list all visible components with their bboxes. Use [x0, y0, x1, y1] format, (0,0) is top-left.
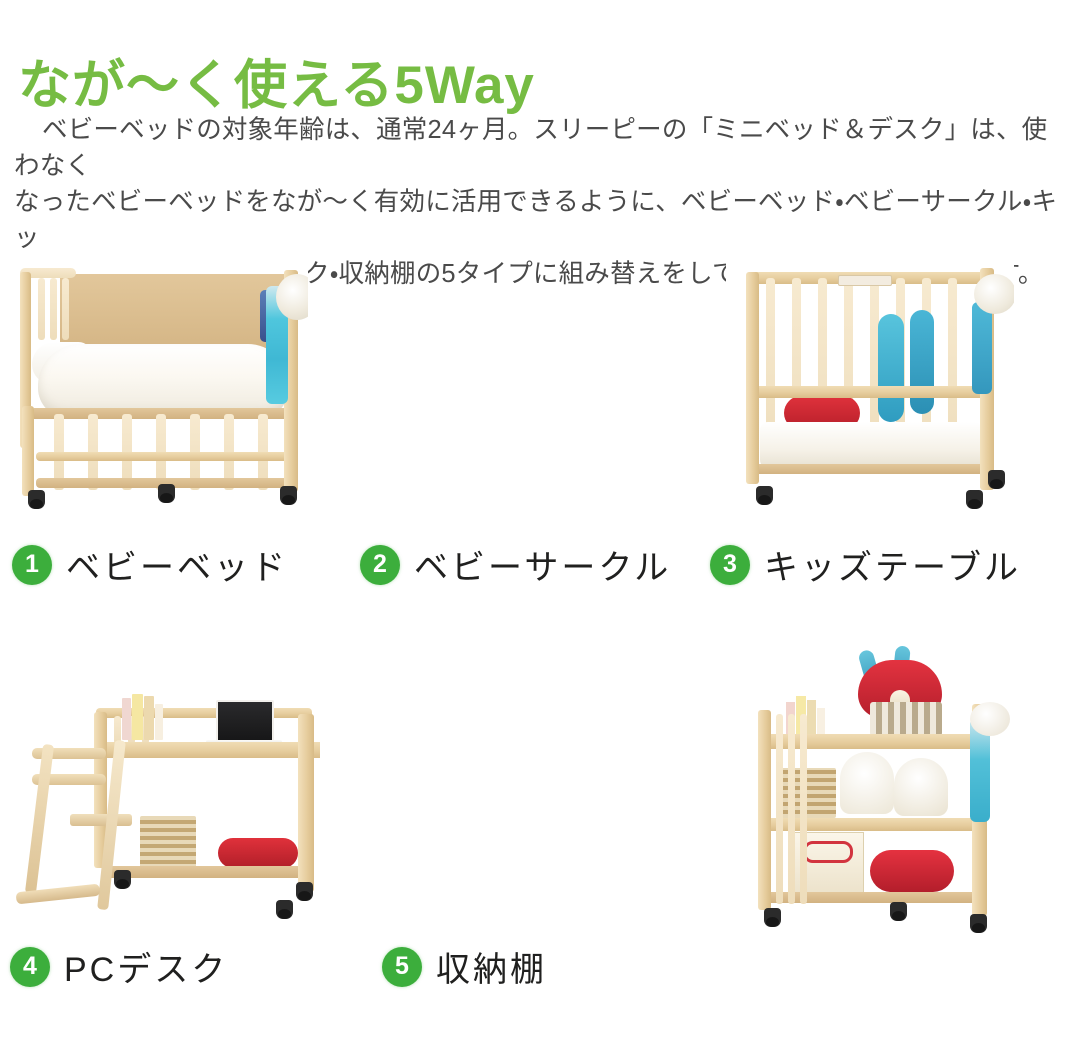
- desk-book: [122, 698, 131, 740]
- mode-card-4[interactable]: 4 PCデスク: [0, 646, 360, 998]
- shelf-book: [807, 700, 816, 736]
- number-badge-4: 4: [10, 947, 50, 987]
- description-line-1: ベビーベッドの対象年齢は、通常24ヶ月。スリーピーの「ミニベッド＆デスク」は、使…: [14, 112, 1070, 184]
- mode-grid-row-1: 1 ベビーベッド: [0, 252, 1080, 604]
- shelf-book: [817, 708, 825, 736]
- desk-book: [155, 704, 163, 740]
- mode-caption-3: 3 キッズテーブル: [710, 540, 1021, 589]
- desk-book: [144, 696, 154, 740]
- mode-label-4: PCデスク: [64, 942, 228, 991]
- mode-card-2[interactable]: 2 ベビーサークル: [340, 252, 690, 604]
- number-badge-5: 5: [382, 947, 422, 987]
- bed-front-rail: [36, 452, 288, 461]
- checkered-basket: [870, 702, 942, 736]
- desk-book: [132, 694, 143, 740]
- caster-wheel: [158, 484, 175, 503]
- red-cushion: [870, 850, 954, 892]
- page-title: なが〜く使える5Way: [18, 58, 535, 114]
- mode-caption-4: 4 PCデスク: [10, 942, 228, 991]
- desk-red-cushion: [218, 838, 298, 868]
- mode-caption-2: 2 ベビーサークル: [360, 540, 671, 589]
- rack-slat: [776, 714, 783, 904]
- caster-wheel: [296, 882, 313, 901]
- mode-caption-5: 5 収納棚: [382, 942, 547, 991]
- white-cushion: [840, 752, 894, 814]
- number-badge-2: 2: [360, 545, 400, 585]
- bed-left-post: [22, 406, 34, 496]
- bed-head-slat: [62, 278, 69, 340]
- mode-grid-row-2: 4 PCデスク: [0, 604, 1080, 956]
- product-image-storage-rack: [742, 646, 1010, 938]
- bed-head-slat: [38, 278, 45, 340]
- desk-lower-shelf: [108, 866, 310, 878]
- mode-caption-1: 1 ベビーベッド: [12, 540, 288, 589]
- product-image-pc-desk: [10, 656, 340, 938]
- mode-card-5[interactable]: 5 収納棚: [360, 646, 700, 998]
- mode-card-1[interactable]: 1 ベビーベッド: [0, 252, 340, 604]
- product-image-baby-bed: [8, 256, 308, 518]
- mode-label-1: ベビーベッド: [66, 540, 288, 589]
- number-badge-3: 3: [710, 545, 750, 585]
- mode-label-5: 収納棚: [436, 942, 547, 991]
- mode-label-3: キッズテーブル: [764, 540, 1021, 589]
- caster-wheel: [280, 486, 297, 505]
- caster-wheel: [276, 900, 293, 919]
- rack-slat: [800, 714, 807, 904]
- rack-ruffle-trim: [970, 702, 1010, 736]
- mode-label-2: ベビーサークル: [414, 540, 671, 589]
- bed-mattress: [38, 344, 288, 418]
- rack-left-post: [758, 710, 771, 910]
- bed-head-slat: [50, 278, 57, 340]
- laptop-screen: [216, 700, 274, 744]
- desk-right-post: [298, 714, 314, 892]
- rack-middle-shelf: [764, 818, 984, 831]
- number-badge-1: 1: [12, 545, 52, 585]
- description-line-2: なったベビーベッドをなが〜く有効に活用できるように、ベビーベッド・ベビーサークル…: [14, 184, 1070, 256]
- caster-wheel: [114, 870, 131, 889]
- white-cushion: [894, 758, 948, 816]
- desk-surface: [94, 742, 320, 758]
- mode-card-3[interactable]: 3 キッズテーブル: [690, 252, 1080, 604]
- caster-wheel: [890, 902, 907, 921]
- desk-wicker-basket: [140, 816, 196, 868]
- promo-page: なが〜く使える5Way ベビーベッドの対象年齢は、通常24ヶ月。スリーピーの「ミ…: [0, 0, 1080, 1063]
- mode-grid: 1 ベビーベッド: [0, 252, 1080, 956]
- caster-wheel: [970, 914, 987, 933]
- rack-slat: [788, 714, 795, 904]
- caster-wheel: [28, 490, 45, 509]
- caster-wheel: [764, 908, 781, 927]
